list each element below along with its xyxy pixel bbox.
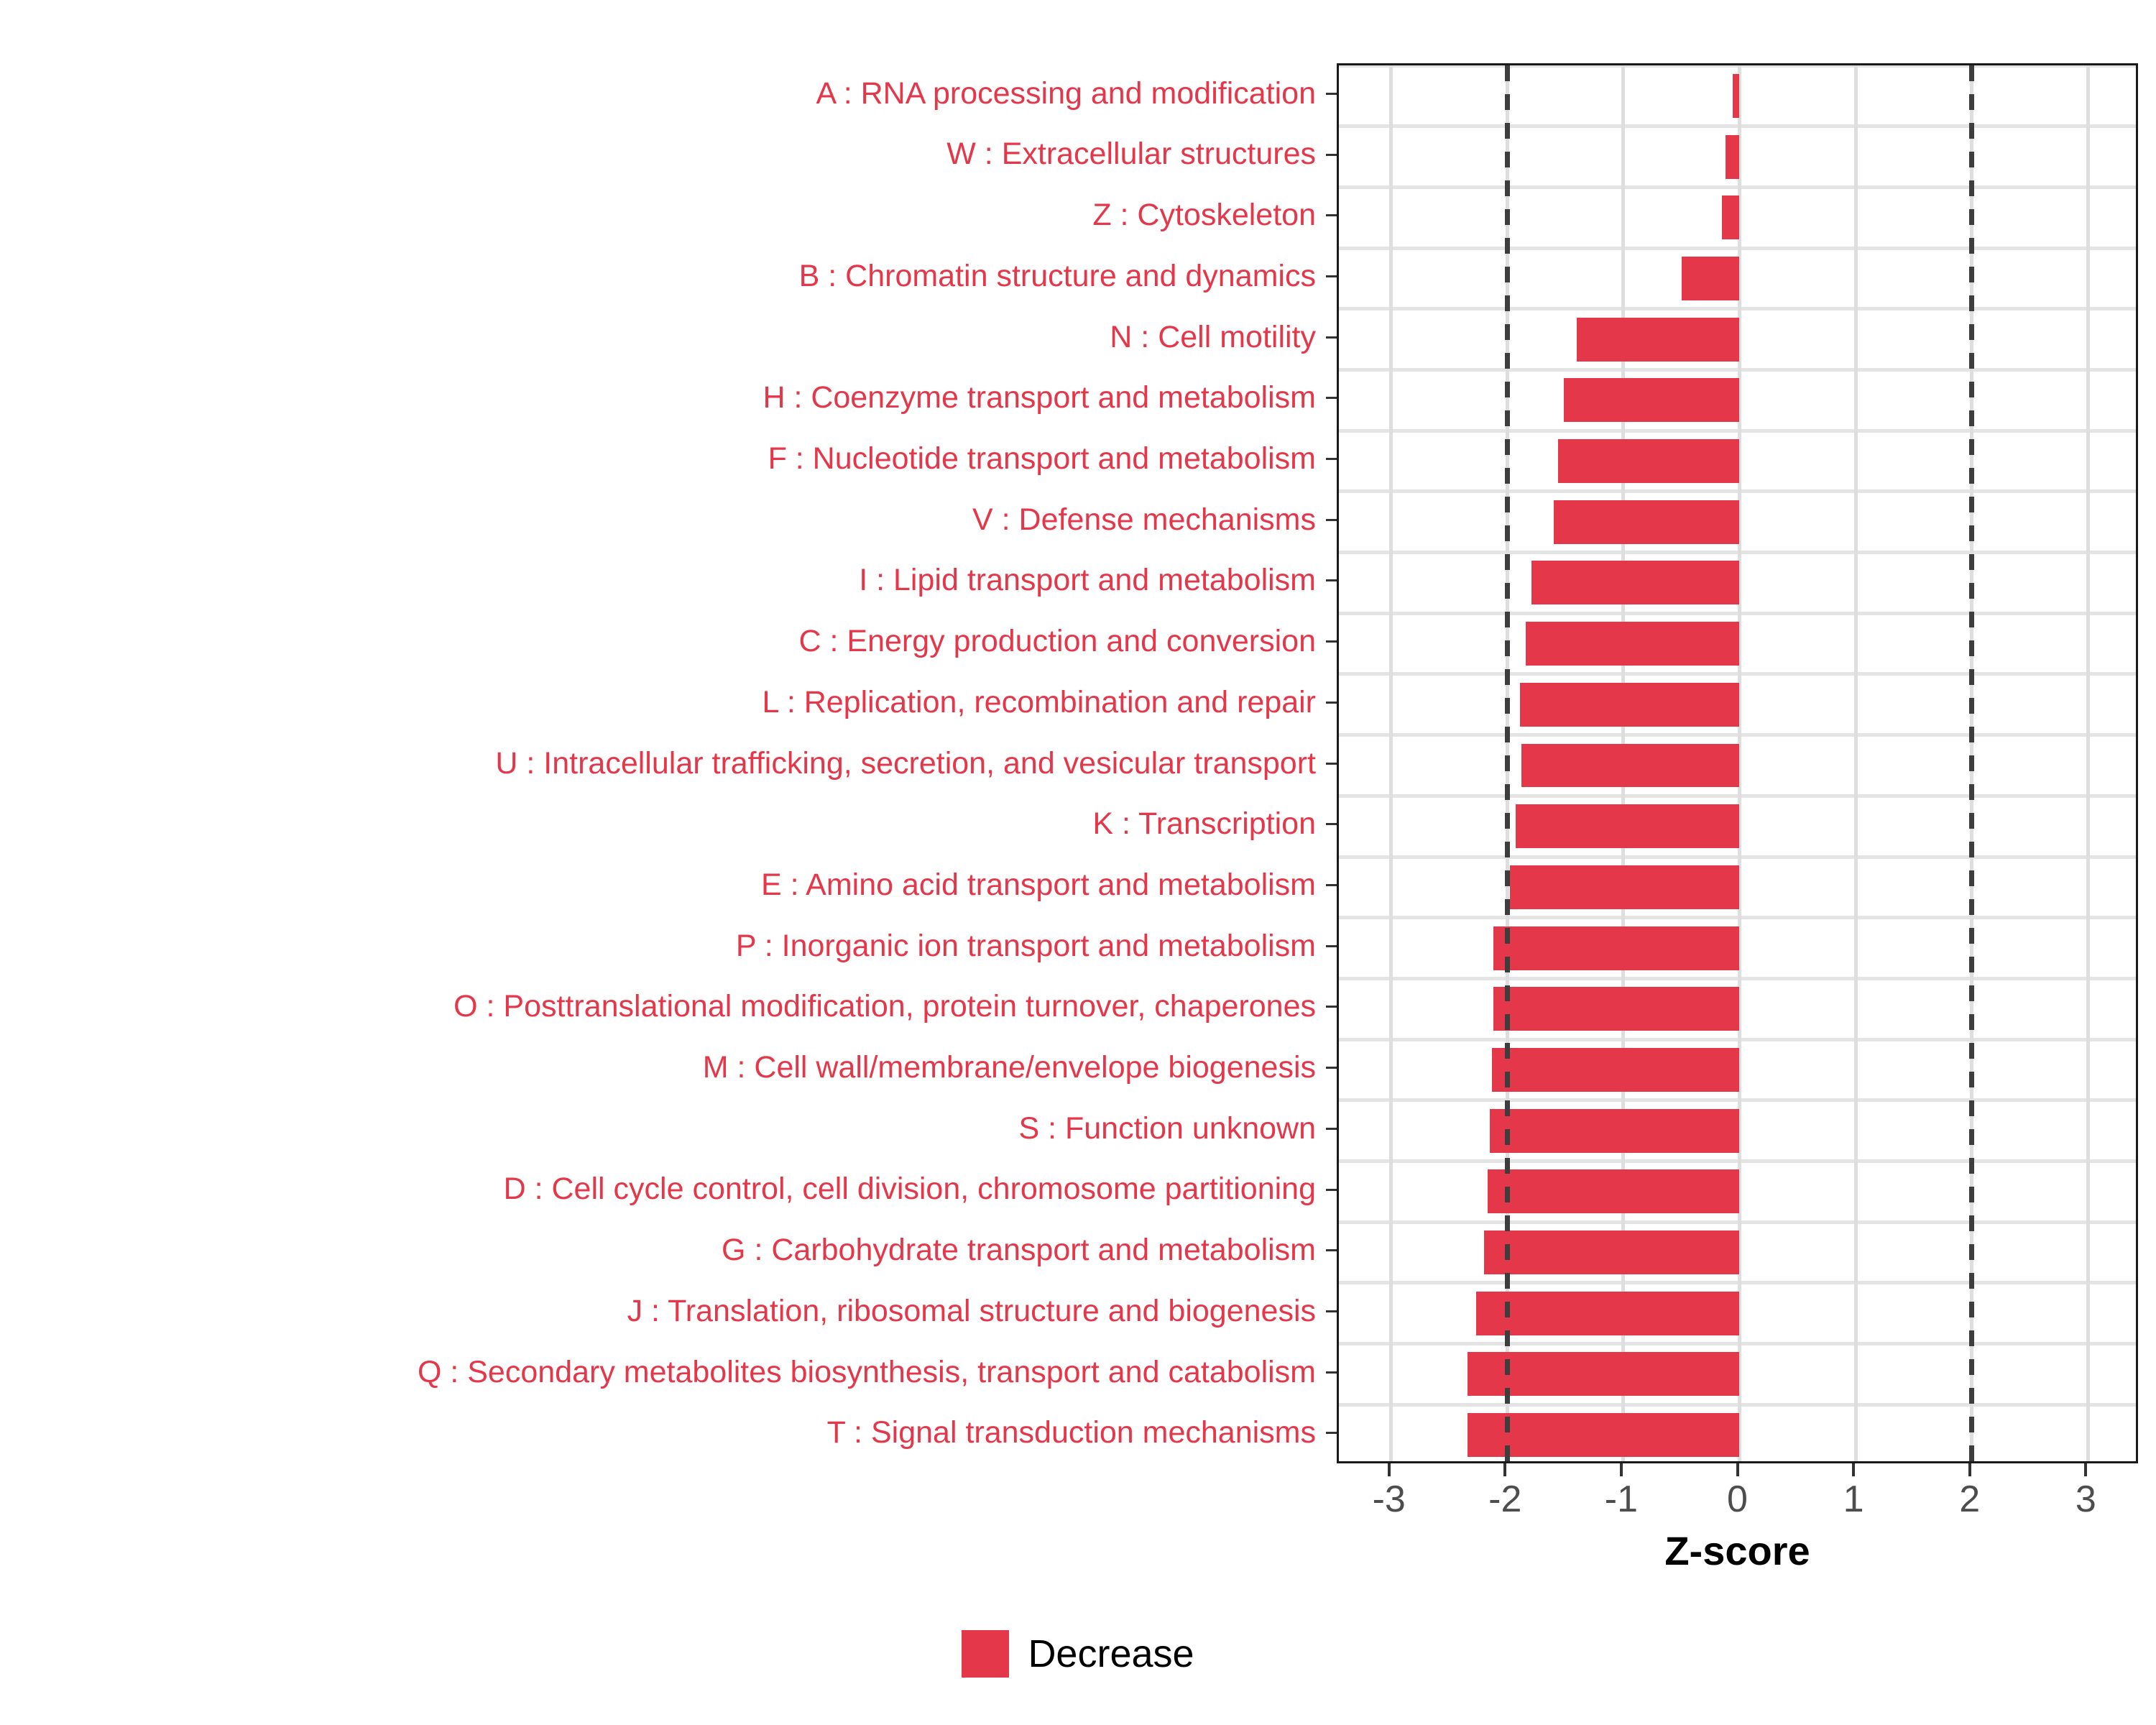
legend-color-swatch: [962, 1630, 1009, 1678]
bar[interactable]: [1516, 804, 1740, 848]
bar[interactable]: [1493, 926, 1740, 970]
bar[interactable]: [1488, 1169, 1740, 1213]
bar[interactable]: [1577, 318, 1739, 362]
y-axis-tick: [1326, 551, 1337, 612]
y-axis-label-row: S : Function unknown: [0, 1098, 1326, 1159]
x-tick-label: -1: [1605, 1478, 1638, 1521]
y-axis-label-row: Z : Cytoskeleton: [0, 185, 1326, 246]
y-tick-mark: [1326, 214, 1337, 216]
bar[interactable]: [1510, 865, 1740, 909]
y-axis-label-row: L : Replication, recombination and repai…: [0, 672, 1326, 733]
y-axis-label-row: T : Signal transduction mechanisms: [0, 1402, 1326, 1463]
y-axis-category-label: C : Energy production and conversion: [799, 625, 1316, 658]
bar[interactable]: [1726, 135, 1739, 179]
y-tick-mark: [1326, 458, 1337, 460]
x-tick-mark: [1736, 1463, 1739, 1476]
y-tick-mark: [1326, 1006, 1337, 1008]
x-tick-label: 3: [2076, 1478, 2096, 1521]
y-tick-mark: [1326, 1310, 1337, 1312]
x-tick-mark: [1852, 1463, 1855, 1476]
x-tick-mark: [1503, 1463, 1506, 1476]
bar[interactable]: [1733, 74, 1740, 118]
y-axis-tick: [1326, 1098, 1337, 1159]
y-axis-label-row: E : Amino acid transport and metabolism: [0, 855, 1326, 916]
x-tick-label: 0: [1727, 1478, 1748, 1521]
y-tick-mark: [1326, 701, 1337, 704]
y-tick-mark: [1326, 1189, 1337, 1191]
x-tick-mark: [2084, 1463, 2087, 1476]
y-axis-tick: [1326, 307, 1337, 368]
y-axis-label-row: U : Intracellular trafficking, secretion…: [0, 733, 1326, 794]
y-tick-mark: [1326, 945, 1337, 947]
y-axis-tick: [1326, 185, 1337, 246]
y-tick-mark: [1326, 275, 1337, 277]
y-tick-mark: [1326, 397, 1337, 399]
y-tick-mark: [1326, 1128, 1337, 1130]
x-tick-label: 2: [1959, 1478, 1980, 1521]
y-axis-label-row: N : Cell motility: [0, 307, 1326, 368]
y-tick-mark: [1326, 1249, 1337, 1251]
bar[interactable]: [1564, 378, 1739, 422]
x-axis-tick-marks: [1337, 1463, 2138, 1476]
y-axis-label-row: C : Energy production and conversion: [0, 611, 1326, 672]
y-axis-tick: [1326, 793, 1337, 855]
plot-panel: [1337, 63, 2138, 1463]
y-axis-label-row: P : Inorganic ion transport and metaboli…: [0, 916, 1326, 977]
threshold-dashed-line: [1969, 65, 1974, 1461]
threshold-dashed-line: [1505, 65, 1510, 1461]
y-tick-mark: [1326, 1371, 1337, 1374]
y-axis-label-row: K : Transcription: [0, 793, 1326, 855]
bar[interactable]: [1492, 1048, 1739, 1092]
y-axis-tick: [1326, 246, 1337, 307]
y-axis-category-label: H : Coenzyme transport and metabolism: [763, 382, 1316, 414]
chart-legend: Decrease: [0, 1630, 2156, 1678]
bar[interactable]: [1520, 683, 1739, 727]
y-axis-tick: [1326, 368, 1337, 429]
bar[interactable]: [1722, 195, 1739, 239]
y-axis-category-label: D : Cell cycle control, cell division, c…: [504, 1173, 1316, 1205]
vertical-gridline: [2086, 65, 2090, 1461]
y-axis-label-row: G : Carbohydrate transport and metabolis…: [0, 1220, 1326, 1281]
y-axis-category-label: V : Defense mechanisms: [972, 504, 1316, 536]
y-axis-label-row: Q : Secondary metabolites biosynthesis, …: [0, 1342, 1326, 1403]
x-tick-mark: [1388, 1463, 1391, 1476]
bar[interactable]: [1526, 622, 1739, 666]
y-axis-tick: [1326, 63, 1337, 124]
y-axis-category-label: F : Nucleotide transport and metabolism: [768, 443, 1316, 475]
y-axis-category-labels: A : RNA processing and modificationW : E…: [0, 63, 1326, 1463]
y-axis-category-label: L : Replication, recombination and repai…: [763, 686, 1316, 719]
y-axis-tick-marks: [1326, 63, 1337, 1463]
y-axis-category-label: Z : Cytoskeleton: [1092, 199, 1316, 231]
y-tick-mark: [1326, 336, 1337, 339]
bar[interactable]: [1531, 561, 1739, 604]
x-tick-mark: [1968, 1463, 1971, 1476]
y-axis-label-row: I : Lipid transport and metabolism: [0, 551, 1326, 612]
y-axis-category-label: N : Cell motility: [1110, 321, 1316, 354]
y-axis-category-label: I : Lipid transport and metabolism: [859, 564, 1316, 597]
x-tick-mark: [1620, 1463, 1623, 1476]
bar[interactable]: [1484, 1230, 1740, 1274]
vertical-gridline: [1389, 65, 1393, 1461]
y-axis-tick: [1326, 1402, 1337, 1463]
y-axis-category-label: Q : Secondary metabolites biosynthesis, …: [418, 1356, 1316, 1389]
y-axis-tick: [1326, 124, 1337, 185]
y-axis-tick: [1326, 611, 1337, 672]
y-tick-mark: [1326, 640, 1337, 643]
x-tick-label: 1: [1843, 1478, 1864, 1521]
bar[interactable]: [1558, 439, 1739, 483]
y-axis-category-label: O : Posttranslational modification, prot…: [453, 990, 1316, 1023]
bar[interactable]: [1476, 1292, 1740, 1335]
y-axis-tick: [1326, 1342, 1337, 1403]
bar[interactable]: [1493, 987, 1740, 1031]
legend-item[interactable]: Decrease: [962, 1630, 1194, 1678]
y-tick-mark: [1326, 579, 1337, 581]
y-axis-category-label: E : Amino acid transport and metabolism: [761, 869, 1316, 901]
y-axis-label-row: D : Cell cycle control, cell division, c…: [0, 1159, 1326, 1220]
y-axis-tick: [1326, 1037, 1337, 1098]
y-axis-tick: [1326, 672, 1337, 733]
y-axis-tick: [1326, 916, 1337, 977]
y-tick-mark: [1326, 884, 1337, 886]
y-axis-label-row: B : Chromatin structure and dynamics: [0, 246, 1326, 307]
y-tick-mark: [1326, 154, 1337, 156]
y-tick-mark: [1326, 823, 1337, 825]
y-axis-tick: [1326, 733, 1337, 794]
y-axis-category-label: P : Inorganic ion transport and metaboli…: [736, 930, 1316, 962]
y-axis-category-label: M : Cell wall/membrane/envelope biogenes…: [703, 1052, 1316, 1084]
x-tick-label: -2: [1488, 1478, 1521, 1521]
x-axis-title: Z-score: [1337, 1527, 2138, 1574]
y-axis-category-label: A : RNA processing and modification: [816, 78, 1316, 110]
y-axis-label-row: A : RNA processing and modification: [0, 63, 1326, 124]
y-axis-category-label: S : Function unknown: [1018, 1113, 1316, 1145]
y-tick-mark: [1326, 763, 1337, 765]
bar[interactable]: [1490, 1109, 1739, 1153]
y-tick-mark: [1326, 93, 1337, 95]
y-axis-category-label: U : Intracellular trafficking, secretion…: [495, 747, 1316, 780]
y-axis-tick: [1326, 1281, 1337, 1342]
y-axis-category-label: J : Translation, ribosomal structure and…: [627, 1295, 1316, 1328]
y-axis-category-label: W : Extracellular structures: [946, 138, 1316, 170]
y-axis-tick: [1326, 977, 1337, 1038]
y-axis-tick: [1326, 1159, 1337, 1220]
bar[interactable]: [1682, 257, 1740, 300]
legend-label: Decrease: [1028, 1632, 1194, 1676]
y-axis-label-row: V : Defense mechanisms: [0, 489, 1326, 551]
y-axis-label-row: H : Coenzyme transport and metabolism: [0, 368, 1326, 429]
bar[interactable]: [1554, 500, 1740, 544]
y-axis-label-row: M : Cell wall/membrane/envelope biogenes…: [0, 1037, 1326, 1098]
y-axis-category-label: T : Signal transduction mechanisms: [827, 1417, 1316, 1449]
y-tick-mark: [1326, 519, 1337, 521]
y-axis-category-label: K : Transcription: [1092, 808, 1316, 840]
bar[interactable]: [1521, 744, 1740, 788]
x-axis-tick-labels: -3-2-10123: [1337, 1478, 2138, 1521]
y-axis-tick: [1326, 1220, 1337, 1281]
y-axis-category-label: B : Chromatin structure and dynamics: [799, 260, 1316, 293]
y-axis-tick: [1326, 489, 1337, 551]
y-tick-mark: [1326, 1432, 1337, 1434]
x-tick-label: -3: [1373, 1478, 1406, 1521]
y-axis-label-row: O : Posttranslational modification, prot…: [0, 977, 1326, 1038]
y-axis-category-label: G : Carbohydrate transport and metabolis…: [722, 1234, 1316, 1266]
cog-zscore-bar-chart: A : RNA processing and modificationW : E…: [0, 0, 2156, 1725]
y-tick-mark: [1326, 1067, 1337, 1069]
y-axis-label-row: J : Translation, ribosomal structure and…: [0, 1281, 1326, 1342]
y-axis-label-row: W : Extracellular structures: [0, 124, 1326, 185]
y-axis-tick: [1326, 428, 1337, 489]
y-axis-label-row: F : Nucleotide transport and metabolism: [0, 428, 1326, 489]
y-axis-tick: [1326, 855, 1337, 916]
vertical-gridline: [1854, 65, 1858, 1461]
